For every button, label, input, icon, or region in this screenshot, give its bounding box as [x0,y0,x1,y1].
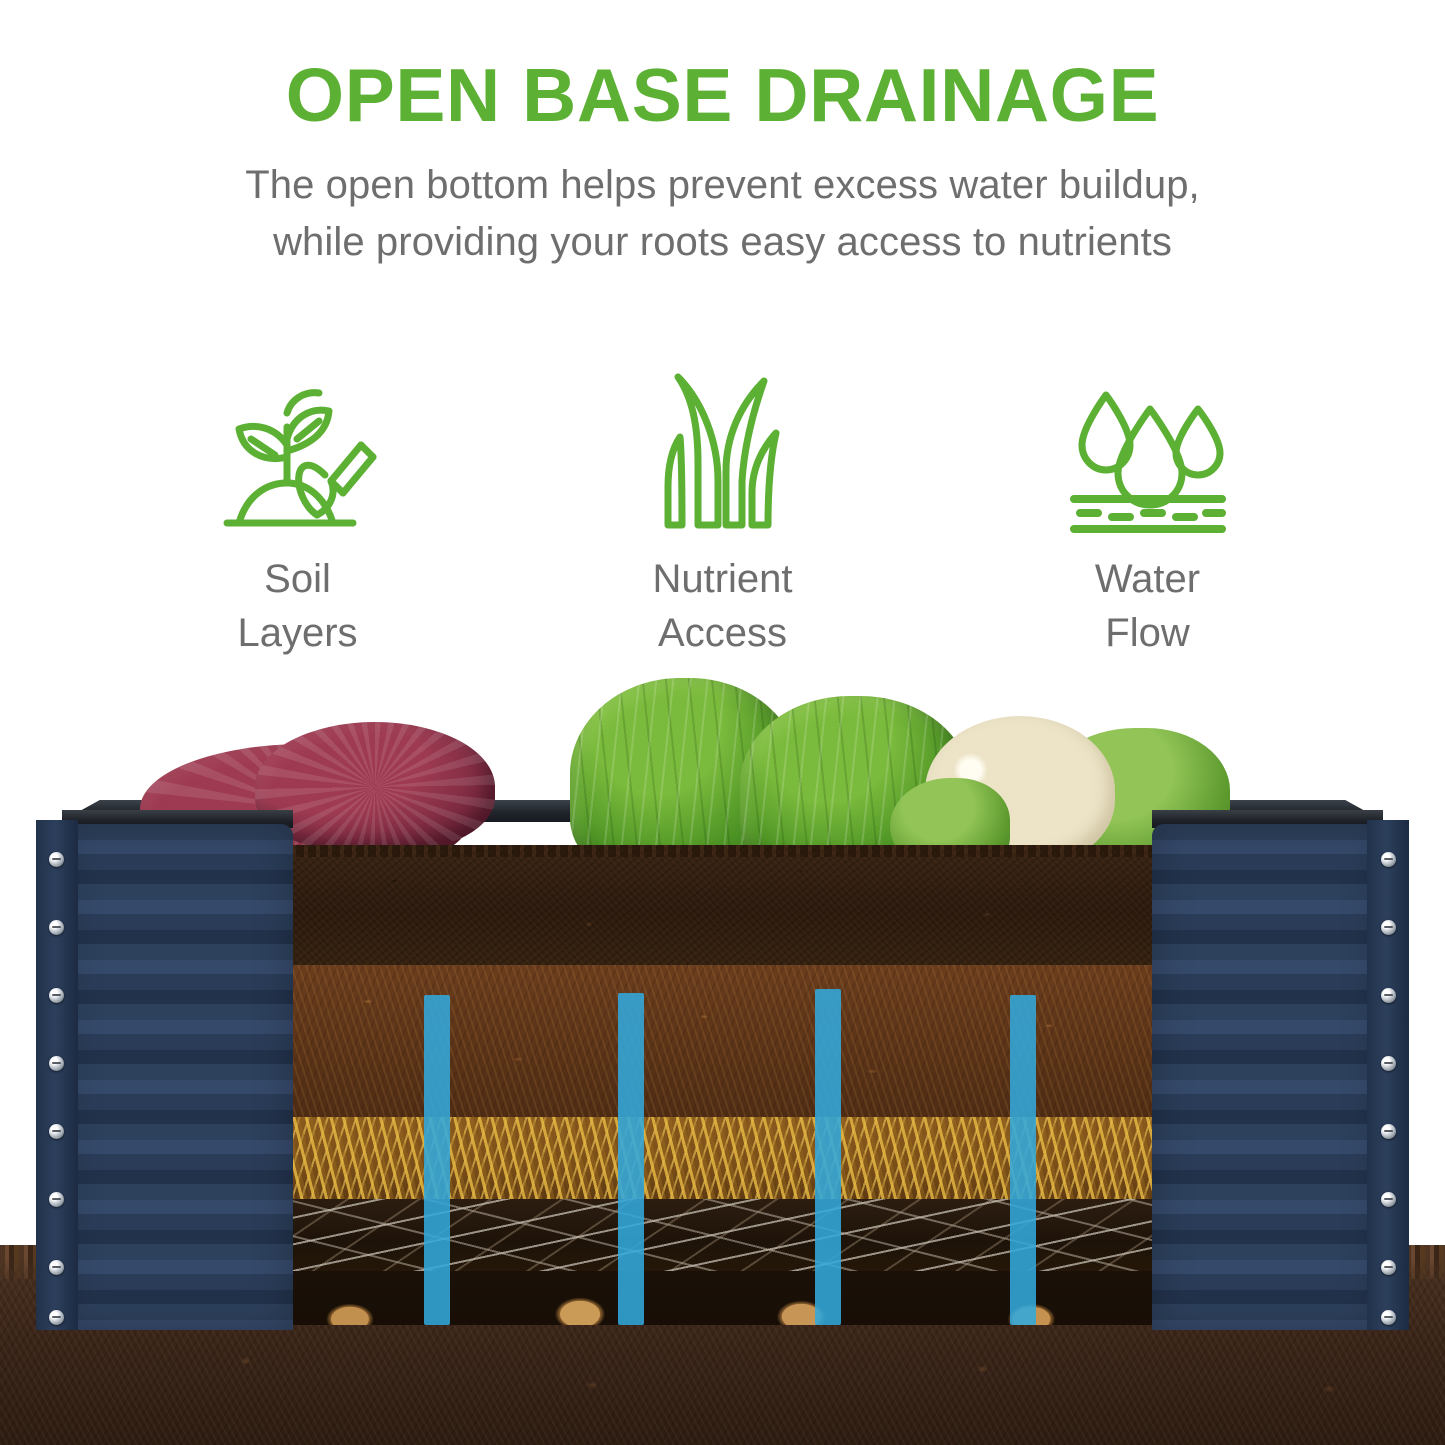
corner-post [36,820,78,1330]
screw-icon [1381,852,1396,867]
screw-icon [1381,1192,1396,1207]
screw-icon [1381,920,1396,935]
screw-icon [49,1310,64,1325]
screw-icon [49,1192,64,1207]
water-droplets-icon [1064,360,1232,535]
screw-icon [49,1056,64,1071]
feature-label-line-2: Layers [237,607,357,661]
water-flow-arrow [424,995,450,1325]
corrugated-panel-face [62,824,293,1330]
feature-water-flow: Water Flow [1013,360,1283,660]
water-flow-arrow [1010,995,1036,1325]
soil-layer-twigs [288,1199,1173,1271]
screw-icon [49,988,64,1003]
screw-icon [49,852,64,867]
feature-label-line-2: Flow [1095,607,1200,661]
soil-layer-logs [288,1271,1173,1325]
screw-icon [1381,1310,1396,1325]
screw-icon [1381,1124,1396,1139]
bed-panel-right [1152,810,1427,1330]
page-subtitle: The open bottom helps prevent excess wat… [0,157,1445,271]
feature-soil-layers: Soil Layers [163,360,433,660]
feature-label-line-1: Water [1095,553,1200,607]
header: OPEN BASE DRAINAGE The open bottom helps… [0,0,1445,271]
water-flow-arrow [618,993,644,1325]
screw-icon [1381,988,1396,1003]
soil-layer-topsoil [288,845,1173,965]
feature-row: Soil Layers Nutrient Access [0,360,1445,660]
corner-post [1367,820,1409,1330]
subtitle-line-2: while providing your roots easy access t… [0,214,1445,271]
feature-nutrient-access: Nutrient Access [588,360,858,660]
screw-icon [49,1260,64,1275]
soil-cross-section [288,845,1173,1325]
screw-icon [1381,1260,1396,1275]
feature-label-line-1: Nutrient [652,553,792,607]
feature-label-water-flow: Water Flow [1095,553,1200,660]
screw-icon [49,920,64,935]
plant-shovel-icon [213,360,383,535]
product-scene [0,660,1445,1445]
soil-layer-straw [288,1117,1173,1199]
screw-icon [1381,1056,1396,1071]
feature-label-soil-layers: Soil Layers [237,553,357,660]
grass-blades-icon [648,360,798,535]
feature-label-line-1: Soil [237,553,357,607]
water-flow-arrow [815,989,841,1325]
soil-layer-compost [288,965,1173,1117]
subtitle-line-1: The open bottom helps prevent excess wat… [0,157,1445,214]
corrugated-panel-face [1152,824,1383,1330]
feature-label-nutrient-access: Nutrient Access [652,553,792,660]
bed-panel-left [18,810,293,1330]
screw-icon [49,1124,64,1139]
page-title: OPEN BASE DRAINAGE [0,58,1445,133]
feature-label-line-2: Access [652,607,792,661]
